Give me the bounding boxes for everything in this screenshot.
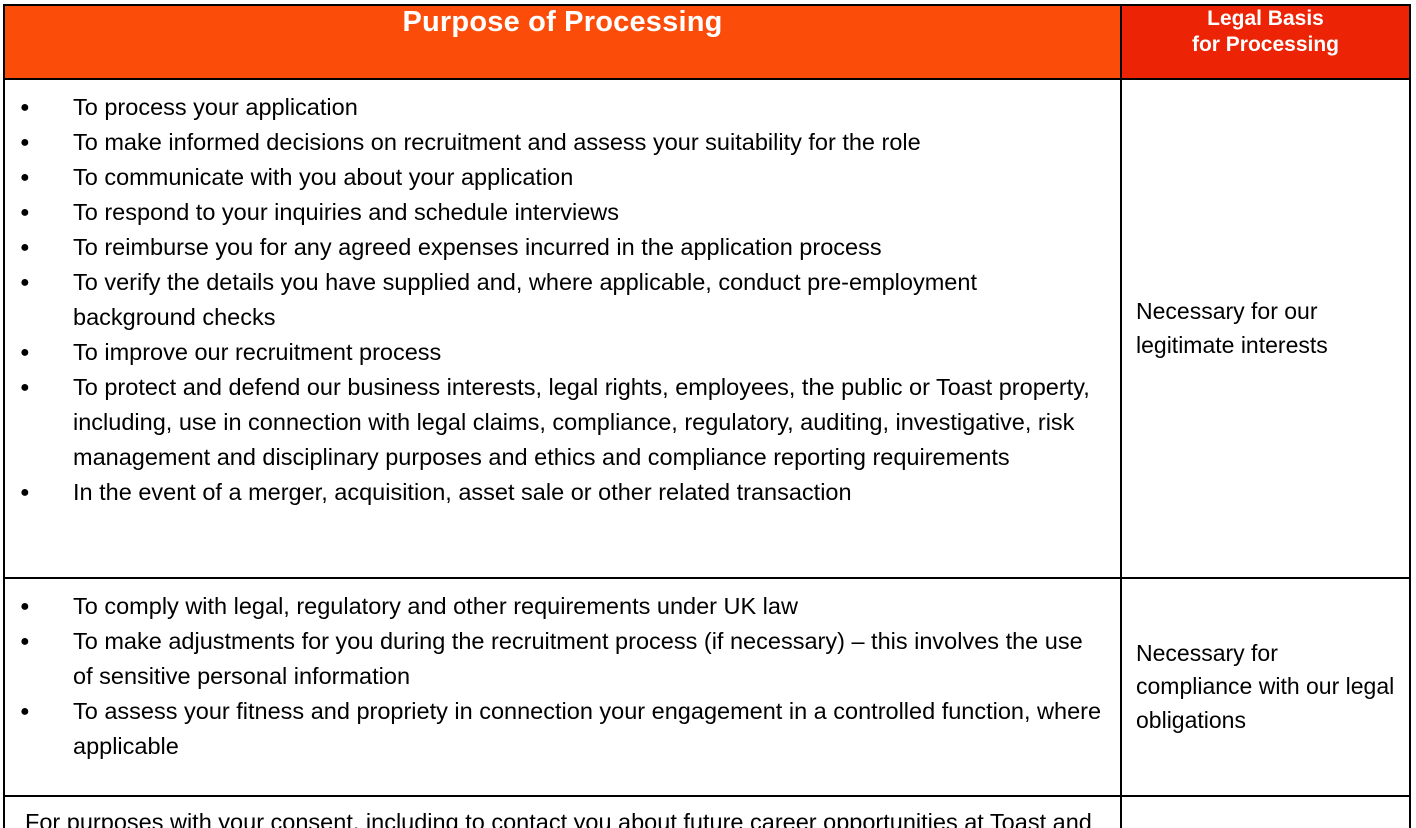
legal-basis-cell-row3: Consent	[1121, 796, 1410, 828]
document-page: Purpose of Processing Legal Basis for Pr…	[0, 0, 1416, 828]
list-item: To process your application	[5, 90, 1106, 125]
table-header: Purpose of Processing Legal Basis for Pr…	[4, 5, 1410, 79]
purpose-paragraph-row3: For purposes with your consent, includin…	[5, 805, 1106, 828]
column-header-legal-basis-line2: for Processing	[1122, 32, 1409, 58]
list-item: To respond to your inquiries and schedul…	[5, 195, 1106, 230]
legal-basis-cell-row1: Necessary for our legitimate interests	[1121, 79, 1410, 578]
list-item: To communicate with you about your appli…	[5, 160, 1106, 195]
purpose-bullet-list-row1: To process your application To make info…	[5, 90, 1106, 510]
purpose-cell-row1: To process your application To make info…	[4, 79, 1121, 578]
table-row: To comply with legal, regulatory and oth…	[4, 578, 1410, 796]
purpose-of-processing-table: Purpose of Processing Legal Basis for Pr…	[3, 4, 1411, 828]
header-row: Purpose of Processing Legal Basis for Pr…	[4, 5, 1410, 79]
purpose-cell-row2: To comply with legal, regulatory and oth…	[4, 578, 1121, 796]
purpose-cell-row3: For purposes with your consent, includin…	[4, 796, 1121, 828]
table-body: To process your application To make info…	[4, 79, 1410, 828]
list-item: In the event of a merger, acquisition, a…	[5, 475, 1106, 510]
legal-basis-cell-row2: Necessary for compliance with our legal …	[1121, 578, 1410, 796]
list-item: To verify the details you have supplied …	[5, 265, 1106, 335]
list-item: To make informed decisions on recruitmen…	[5, 125, 1106, 160]
table-row: To process your application To make info…	[4, 79, 1410, 578]
list-item: To reimburse you for any agreed expenses…	[5, 230, 1106, 265]
list-item: To comply with legal, regulatory and oth…	[5, 589, 1106, 624]
column-header-legal-basis-for-processing: Legal Basis for Processing	[1121, 5, 1410, 79]
list-item: To make adjustments for you during the r…	[5, 624, 1106, 694]
list-item: To improve our recruitment process	[5, 335, 1106, 370]
list-item: To protect and defend our business inter…	[5, 370, 1106, 475]
column-header-legal-basis-line1: Legal Basis	[1122, 6, 1409, 32]
table-row: For purposes with your consent, includin…	[4, 796, 1410, 828]
column-header-purpose-of-processing: Purpose of Processing	[4, 5, 1121, 79]
purpose-bullet-list-row2: To comply with legal, regulatory and oth…	[5, 589, 1106, 764]
list-item: To assess your fitness and propriety in …	[5, 694, 1106, 764]
